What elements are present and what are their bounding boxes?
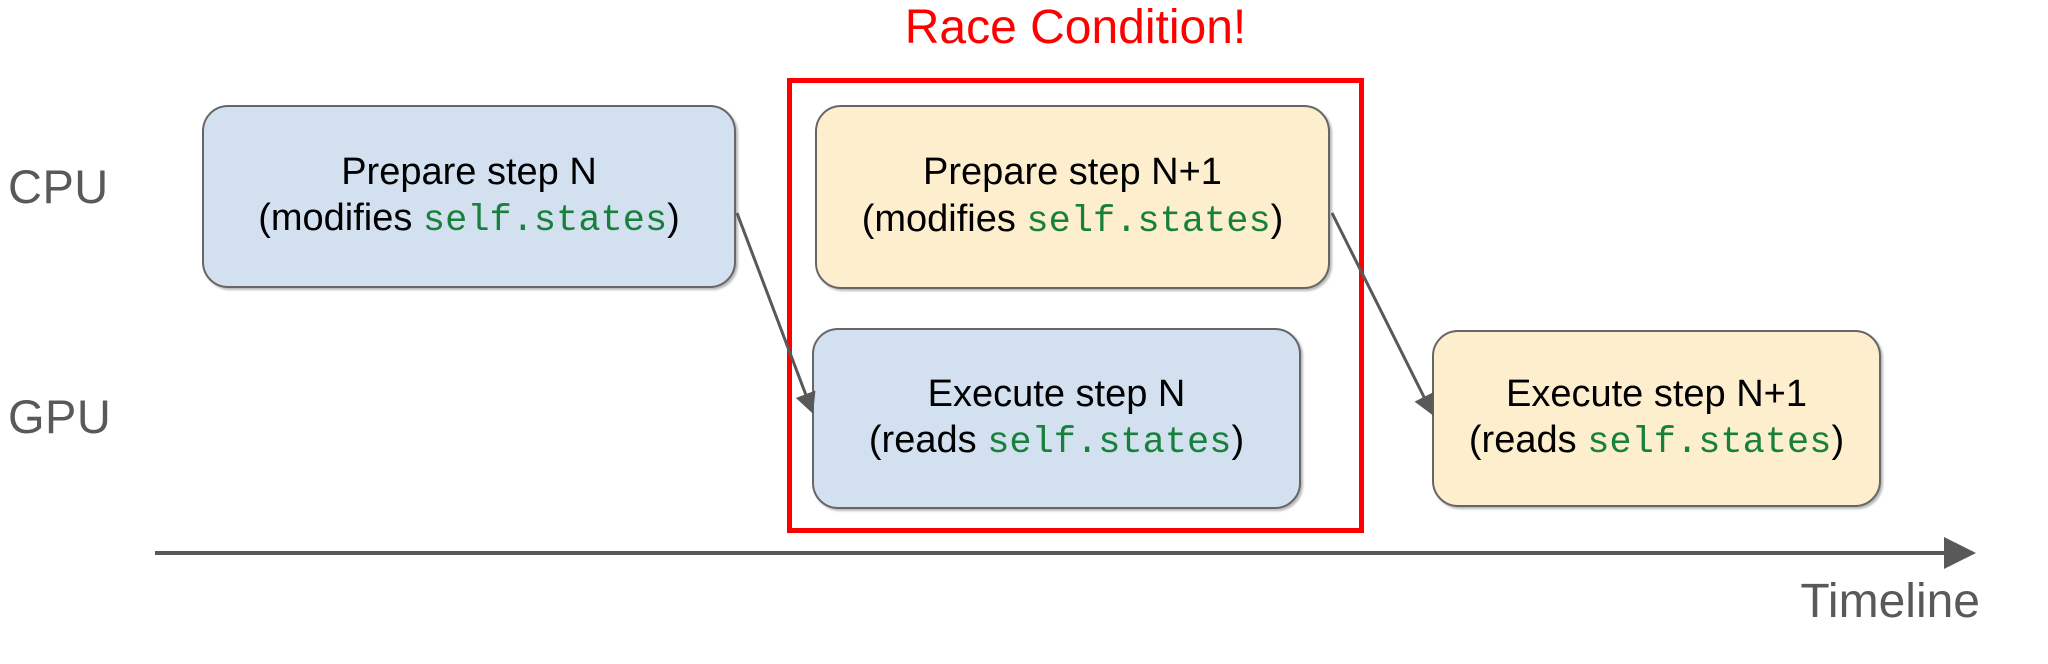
box-prepare-step-n-plus-1-code: self.states xyxy=(1026,201,1270,243)
lane-label-gpu: GPU xyxy=(8,393,111,440)
box-execute-step-n: Execute step N (reads self.states) xyxy=(812,328,1301,509)
lane-label-cpu: CPU xyxy=(8,163,109,210)
box-prepare-step-n-title: Prepare step N xyxy=(341,149,597,195)
box-prepare-step-n-plus-1-title: Prepare step N+1 xyxy=(923,149,1222,195)
box-execute-step-n-plus-1-title: Execute step N+1 xyxy=(1506,371,1807,417)
box-prepare-step-n-code: self.states xyxy=(423,200,667,242)
box-prepare-step-n-subtitle-prefix: (modifies xyxy=(258,197,423,239)
box-execute-step-n-plus-1-subtitle-suffix: ) xyxy=(1831,419,1844,461)
box-prepare-step-n-plus-1: Prepare step N+1 (modifies self.states) xyxy=(815,105,1330,289)
race-condition-label: Race Condition! xyxy=(787,2,1364,55)
box-execute-step-n-subtitle-suffix: ) xyxy=(1231,419,1244,461)
box-execute-step-n-title: Execute step N xyxy=(928,371,1186,417)
box-prepare-step-n-plus-1-subtitle-suffix: ) xyxy=(1271,198,1284,240)
box-execute-step-n-plus-1: Execute step N+1 (reads self.states) xyxy=(1432,330,1881,507)
box-prepare-step-n-subtitle-suffix: ) xyxy=(667,197,680,239)
box-prepare-step-n-plus-1-subtitle-prefix: (modifies xyxy=(862,198,1027,240)
box-execute-step-n-plus-1-subtitle: (reads self.states) xyxy=(1469,417,1844,466)
box-prepare-step-n-plus-1-subtitle: (modifies self.states) xyxy=(862,196,1284,245)
box-execute-step-n-plus-1-code: self.states xyxy=(1587,422,1831,464)
box-execute-step-n-subtitle: (reads self.states) xyxy=(869,417,1244,466)
race-condition-timeline-diagram: CPU GPU Race Condition! Prepare step N (… xyxy=(0,0,2048,664)
box-execute-step-n-subtitle-prefix: (reads xyxy=(869,419,987,461)
box-prepare-step-n: Prepare step N (modifies self.states) xyxy=(202,105,736,288)
box-prepare-step-n-subtitle: (modifies self.states) xyxy=(258,195,680,244)
box-execute-step-n-code: self.states xyxy=(987,422,1231,464)
timeline-axis-label: Timeline xyxy=(1800,578,1980,626)
box-execute-step-n-plus-1-subtitle-prefix: (reads xyxy=(1469,419,1587,461)
